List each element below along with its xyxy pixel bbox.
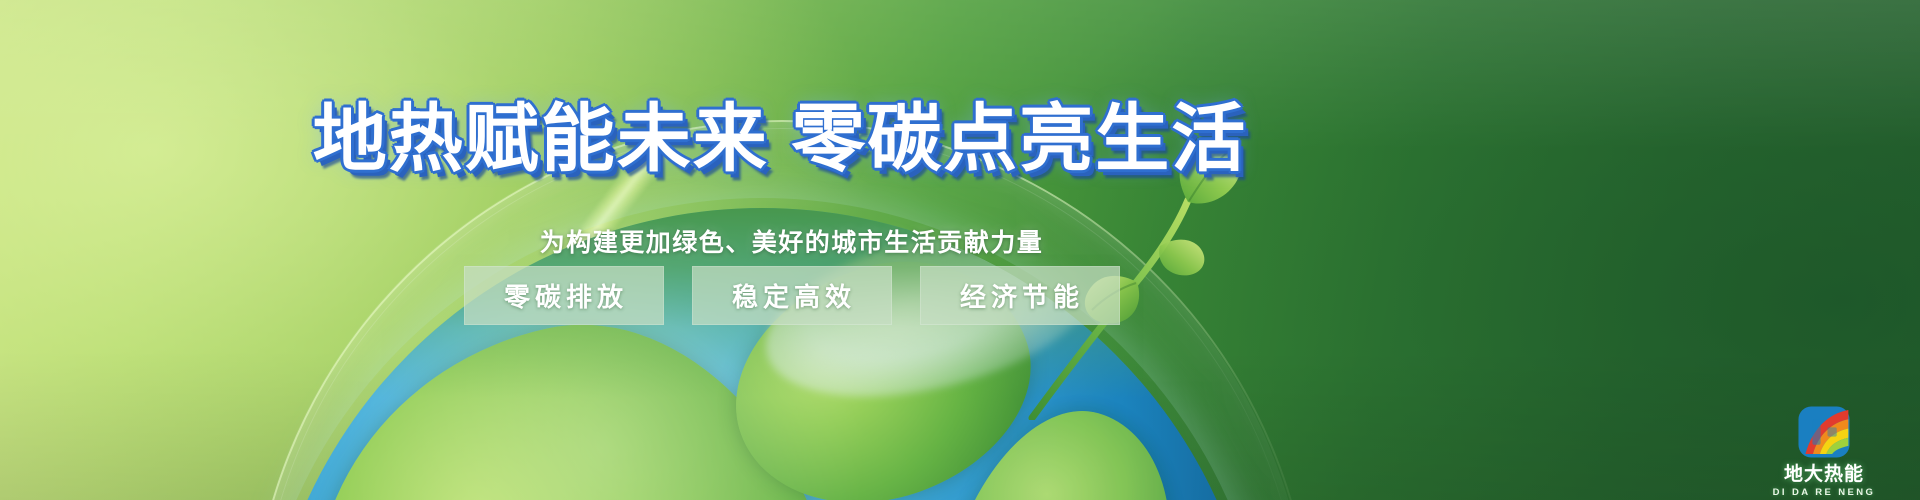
banner-subtitle: 为构建更加绿色、美好的城市生活贡献力量 [0,223,1583,259]
banner-headline: 地热赋能未来 零碳点亮生活 [0,102,1560,176]
feature-tag-list: 零碳排放 稳定高效 经济节能 [0,266,1583,325]
brand-name-cn: 地大热能 [1762,465,1886,485]
didareneng-rainbow-square-logo-icon [1795,403,1853,461]
brand-logo[interactable]: 地大热能 DI DA RE NENG [1762,403,1886,498]
brand-name-en: DI DA RE NENG [1762,487,1886,498]
feature-tag-stable-efficient[interactable]: 稳定高效 [692,266,892,325]
hero-banner: 地热赋能未来 零碳点亮生活 为构建更加绿色、美好的城市生活贡献力量 零碳排放 稳… [0,0,1920,500]
feature-tag-zero-carbon[interactable]: 零碳排放 [464,266,664,325]
feature-tag-economical-saving[interactable]: 经济节能 [920,266,1120,325]
